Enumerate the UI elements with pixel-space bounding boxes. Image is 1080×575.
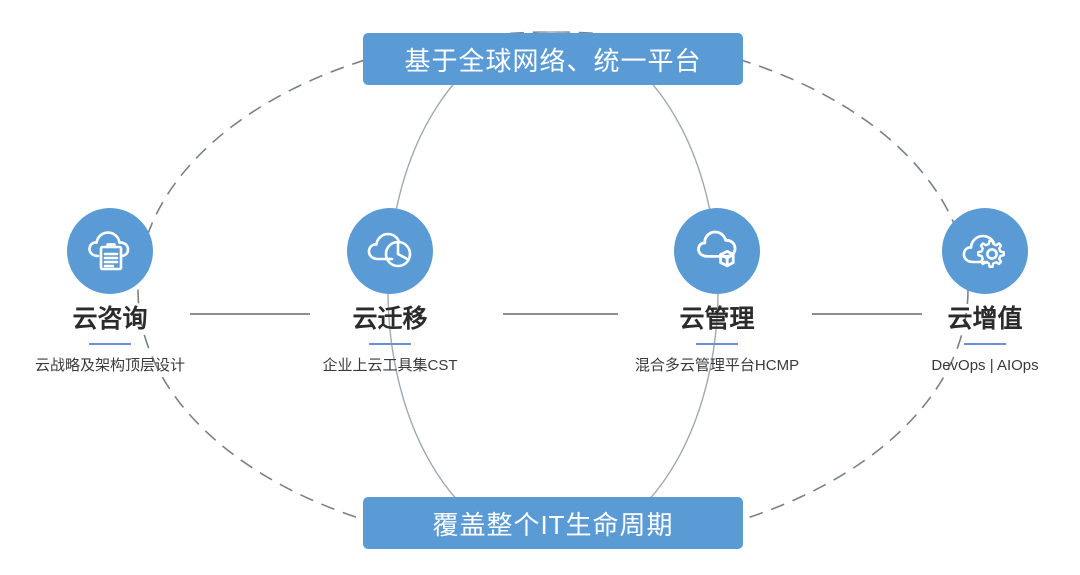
node-title: 云增值 <box>947 306 1022 334</box>
banner-top: 基于全球网络、统一平台 <box>363 33 743 85</box>
cloud-piechart-icon <box>347 208 433 294</box>
connector-segment-2 <box>503 313 618 315</box>
node-title: 云咨询 <box>72 306 147 334</box>
node-subtitle: 企业上云工具集CST <box>322 357 457 375</box>
node-subtitle: 混合多云管理平台HCMP <box>635 357 799 375</box>
node-cloud-consulting[interactable]: 云咨询 云战略及架构顶层设计 <box>0 208 225 375</box>
node-title: 云迁移 <box>352 306 427 334</box>
node-cloud-migration[interactable]: 云迁移 企业上云工具集CST <box>275 208 505 375</box>
diagram-canvas: 基于全球网络、统一平台 云咨询 云战略及架构顶层设计 云迁移 企业 <box>0 0 1080 575</box>
node-underline <box>964 343 1006 345</box>
cloud-gear-icon <box>942 208 1028 294</box>
node-underline <box>696 343 738 345</box>
cloud-cube-icon <box>674 208 760 294</box>
node-subtitle: DevOps | AIOps <box>931 357 1038 375</box>
node-cloud-management[interactable]: 云管理 混合多云管理平台HCMP <box>602 208 832 375</box>
node-title: 云管理 <box>679 306 754 334</box>
outer-ellipse <box>138 32 968 548</box>
node-cloud-value-added[interactable]: 云增值 DevOps | AIOps <box>870 208 1080 375</box>
banner-bottom: 覆盖整个IT生命周期 <box>363 497 743 549</box>
cloud-clipboard-icon <box>67 208 153 294</box>
node-underline <box>89 343 131 345</box>
node-underline <box>369 343 411 345</box>
node-subtitle: 云战略及架构顶层设计 <box>35 357 185 375</box>
